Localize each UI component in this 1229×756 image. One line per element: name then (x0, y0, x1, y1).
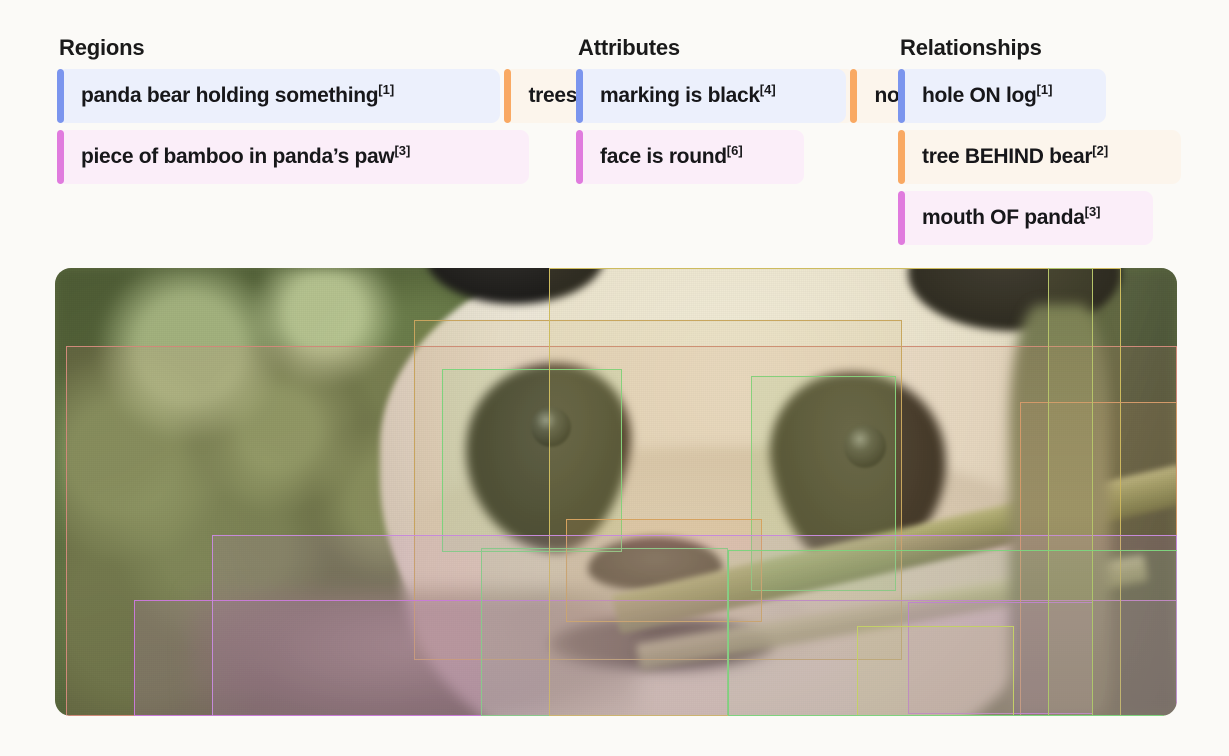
accent-bar-blue-icon (57, 69, 64, 123)
legend-chip-ref: [4] (760, 82, 776, 97)
legend-chip-label: tree BEHIND bear (922, 145, 1092, 169)
page-root: { "page": { "background_color": "#FBFAF7… (0, 0, 1229, 756)
legend-chip-region-3[interactable]: piece of bamboo in panda’s paw[3] (57, 130, 529, 184)
legend-chip-ref: [2] (1092, 143, 1108, 158)
legend-chip-label: face is round (600, 145, 727, 169)
accent-bar-blue-icon (898, 69, 905, 123)
legend-chip-ref: [3] (394, 143, 410, 158)
chip-list-relationships: hole ON log[1] tree BEHIND bear[2] mouth… (898, 69, 1229, 252)
legend-chip-label: mouth OF panda (922, 206, 1085, 230)
legend-chip-label: panda bear holding something (81, 84, 378, 108)
legend-chip-region-1[interactable]: panda bear holding something[1] (57, 69, 500, 123)
accent-bar-pink-icon (576, 130, 583, 184)
accent-bar-orange-icon (504, 69, 511, 123)
legend-chip-attribute-3[interactable]: face is round[6] (576, 130, 804, 184)
legend-chip-ref: [6] (727, 143, 743, 158)
annotated-image-panel[interactable] (55, 268, 1177, 716)
accent-bar-blue-icon (576, 69, 583, 123)
legend-chip-ref: [1] (378, 82, 394, 97)
annotation-legend: Regions panda bear holding something[1] … (0, 0, 1229, 268)
accent-bar-pink-icon (57, 130, 64, 184)
legend-chip-label: hole ON log (922, 84, 1037, 108)
legend-chip-label: piece of bamboo in panda’s paw (81, 145, 394, 169)
bounding-box[interactable] (728, 550, 1177, 716)
legend-chip-relationship-2[interactable]: tree BEHIND bear[2] (898, 130, 1181, 184)
legend-chip-ref: [1] (1037, 82, 1053, 97)
legend-chip-ref: [3] (1085, 204, 1101, 219)
legend-column-relationships: Relationships hole ON log[1] tree BEHIND… (898, 36, 1229, 252)
accent-bar-orange-icon (898, 130, 905, 184)
legend-chip-label: marking is black (600, 84, 760, 108)
legend-chip-relationship-1[interactable]: hole ON log[1] (898, 69, 1106, 123)
accent-bar-pink-icon (898, 191, 905, 245)
legend-chip-relationship-3[interactable]: mouth OF panda[3] (898, 191, 1153, 245)
column-title-relationships: Relationships (900, 36, 1229, 60)
legend-chip-attribute-1[interactable]: marking is black[4] (576, 69, 846, 123)
accent-bar-orange-icon (850, 69, 857, 123)
bounding-box-overlay (55, 268, 1177, 716)
